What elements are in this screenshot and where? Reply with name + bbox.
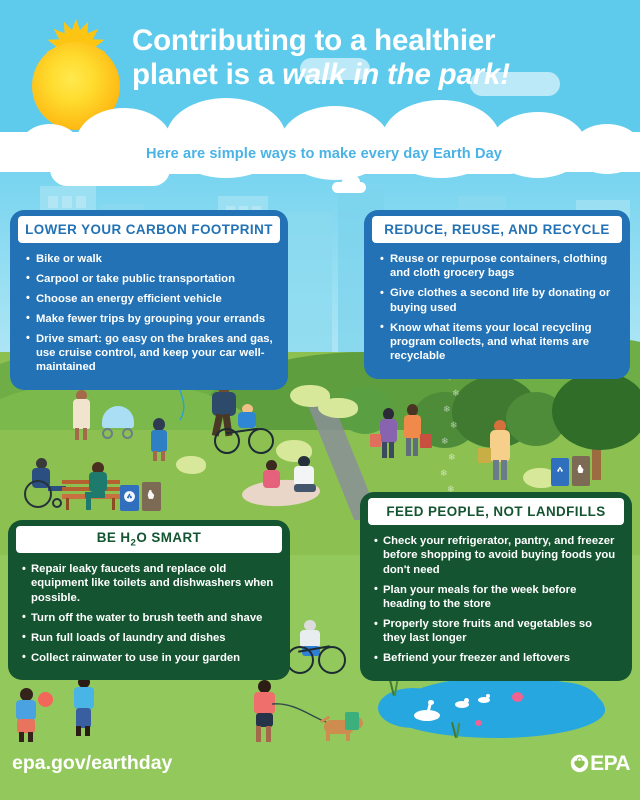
panel-list-carbon: Bike or walk Carpool or take public tran…: [16, 246, 282, 384]
panel-heading-recycle: REDUCE, REUSE, AND RECYCLE: [372, 216, 622, 243]
dog: [320, 716, 366, 742]
heading-water-suffix: O SMART: [136, 530, 201, 545]
panel-list-food: Check your refrigerator, pantry, and fre…: [366, 528, 626, 675]
bush-2: [176, 456, 206, 474]
panel-heading-carbon-text: LOWER YOUR CARBON FOOTPRINT: [25, 222, 273, 237]
person-on-bench: [82, 462, 116, 510]
footer-url[interactable]: epa.gov/earthday: [12, 752, 172, 775]
panel-reduce-reuse-recycle: REDUCE, REUSE, AND RECYCLE Reuse or repu…: [364, 210, 630, 379]
panel-heading-recycle-text: REDUCE, REUSE, AND RECYCLE: [384, 222, 609, 237]
subtitle-text: Here are simple ways to make every day E…: [146, 146, 502, 162]
panel-heading-food-text: FEED PEOPLE, NOT LANDFILLS: [386, 504, 605, 519]
lily-pad-2: [475, 720, 482, 726]
reed-left: [386, 680, 400, 696]
list-item: Turn off the water to brush teeth and sh…: [22, 611, 276, 625]
epa-logo: EPA: [570, 754, 630, 773]
list-item: Know what items your local recycling pro…: [378, 321, 616, 364]
epa-wordmark: EPA: [590, 754, 630, 773]
ball: [38, 692, 53, 707]
shopper-couple-2: [400, 404, 426, 460]
panel-list-water: Repair leaky faucets and replace old equ…: [14, 556, 284, 674]
stroller: [96, 406, 136, 442]
picnic-person-1: [258, 460, 286, 500]
list-item: Choose an energy efficient vehicle: [24, 292, 274, 306]
duck-1: [455, 698, 471, 708]
child-playing-catch: [68, 676, 102, 738]
title-line-2: planet is a walk in the park!: [132, 58, 632, 92]
list-item: Drive smart: go easy on the brakes and g…: [24, 332, 274, 375]
panel-list-recycle: Reuse or repurpose containers, clothing …: [370, 246, 624, 373]
list-item: Plan your meals for the week before head…: [374, 583, 618, 612]
list-item: Befriend your freezer and leftovers: [374, 651, 618, 665]
list-item: Repair leaky faucets and replace old equ…: [22, 562, 276, 605]
list-item: Check your refrigerator, pantry, and fre…: [374, 534, 618, 577]
list-item: Give clothes a second life by donating o…: [378, 286, 616, 315]
bush-7: [318, 398, 358, 418]
shopping-bag-1: [370, 434, 381, 447]
list-item: Reuse or repurpose containers, clothing …: [378, 252, 616, 281]
panel-heading-water: BE H2O SMART: [16, 526, 282, 553]
panel-heading-food: FEED PEOPLE, NOT LANDFILLS: [368, 498, 624, 525]
picnic-person-2: [290, 456, 320, 500]
title-line-2-italic: walk in the park!: [282, 58, 510, 91]
recycling-bin-left: [120, 485, 139, 511]
panel-feed-people-not-landfills: FEED PEOPLE, NOT LANDFILLS Check your re…: [360, 492, 632, 681]
title-line-2-plain: planet is a: [132, 58, 282, 91]
trash-bin-left: [142, 482, 161, 511]
epa-seal-icon: [570, 754, 589, 773]
panel-be-h2o-smart: BE H2O SMART Repair leaky faucets and re…: [8, 520, 290, 680]
list-item: Properly store fruits and vegetables so …: [374, 617, 618, 646]
duck-2: [478, 694, 492, 703]
trash-bin-right: [572, 456, 590, 486]
panel-heading-water-text: BE H2O SMART: [97, 530, 202, 549]
earth-day-infographic: Contributing to a healthier planet is a …: [0, 0, 640, 800]
bicycle-child: [214, 424, 272, 450]
reed-bottom: [448, 722, 462, 738]
list-item: Collect rainwater to use in your garden: [22, 651, 276, 665]
bicycle-senior: [286, 640, 344, 670]
panel-heading-carbon: LOWER YOUR CARBON FOOTPRINT: [18, 216, 280, 243]
title-line-1: Contributing to a healthier: [132, 24, 632, 58]
page-title: Contributing to a healthier planet is a …: [132, 24, 632, 92]
person-in-wheelchair: [22, 458, 66, 508]
list-item: Run full loads of laundry and dishes: [22, 631, 276, 645]
lily-pad-1: [512, 692, 523, 702]
list-item: Bike or walk: [24, 252, 274, 266]
subtitle-banner: Here are simple ways to make every day E…: [118, 134, 530, 174]
list-item: Carpool or take public transportation: [24, 272, 274, 286]
tote-bag: [478, 448, 491, 463]
heading-water-prefix: BE H: [97, 530, 131, 545]
recycling-bin-bottom: [345, 712, 359, 730]
list-item: Make fewer trips by grouping your errand…: [24, 312, 274, 326]
swan: [414, 700, 444, 722]
recycling-bin-right: [551, 458, 569, 486]
shopping-bag-2: [420, 434, 432, 448]
panel-lower-carbon-footprint: LOWER YOUR CARBON FOOTPRINT Bike or walk…: [10, 210, 288, 390]
